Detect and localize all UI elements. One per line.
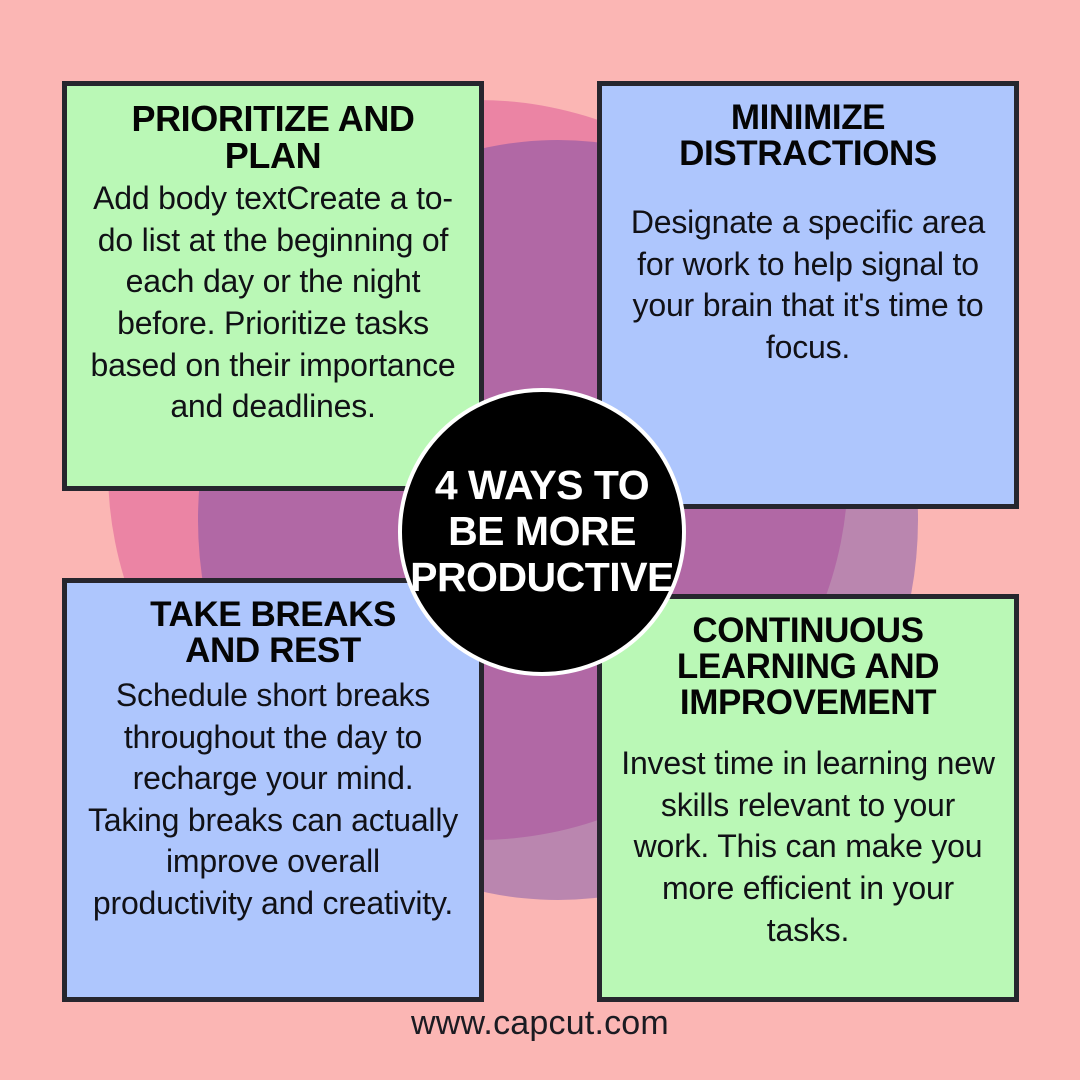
- card-body: Designate a specific area for work to he…: [620, 202, 996, 368]
- card-body: Invest time in learning new skills relev…: [620, 743, 996, 951]
- card-title: TAKE BREAKS AND REST: [150, 597, 396, 669]
- card-title: PRIORITIZE AND PLAN: [85, 100, 461, 174]
- footer-url: www.capcut.com: [0, 1004, 1080, 1043]
- center-badge: 4 WAYS TO BE MORE PRODUCTIVE: [398, 388, 686, 676]
- card-prioritize-and-plan: PRIORITIZE AND PLAN Add body textCreate …: [62, 81, 484, 491]
- card-take-breaks-and-rest: TAKE BREAKS AND REST Schedule short brea…: [62, 578, 484, 1002]
- card-title: CONTINUOUS LEARNING AND IMPROVEMENT: [677, 613, 939, 721]
- card-body: Schedule short breaks throughout the day…: [85, 675, 461, 925]
- card-title: MINIMIZE DISTRACTIONS: [679, 100, 937, 172]
- card-continuous-learning-and-improvement: CONTINUOUS LEARNING AND IMPROVEMENT Inve…: [597, 594, 1019, 1002]
- card-minimize-distractions: MINIMIZE DISTRACTIONS Designate a specif…: [597, 81, 1019, 509]
- card-body: Add body textCreate a to-do list at the …: [85, 178, 461, 428]
- center-badge-title: 4 WAYS TO BE MORE PRODUCTIVE: [402, 463, 682, 601]
